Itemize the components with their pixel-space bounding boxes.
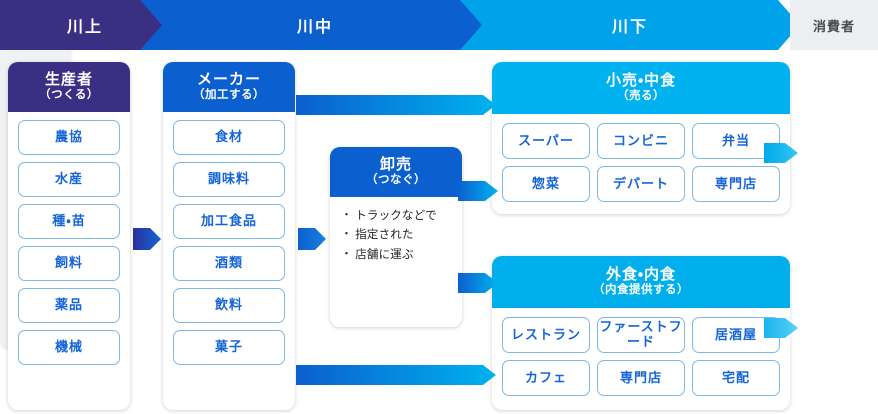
foodservice-column: 外食・内食 （内食提供する） レストラン ファーストフード 居酒屋 カフェ 専門… bbox=[492, 256, 790, 410]
foodservice-items: レストラン ファーストフード 居酒屋 カフェ 専門店 宅配 bbox=[492, 308, 790, 406]
producer-column: 生産者 （つくる） 農協 水産 種・苗 飼料 薬品 機械 bbox=[8, 62, 130, 410]
stage-segment-consumer: 消費者 bbox=[790, 0, 878, 50]
wholesale-bullet: ・ 指定された bbox=[341, 228, 453, 242]
arrow-foodservice-to-consumer-icon bbox=[764, 318, 798, 338]
stage-label-upstream: 川上 bbox=[67, 13, 103, 37]
bullet-marker-icon: ・ bbox=[341, 228, 352, 242]
supply-chain-diagram: 川上 川中 川下 消費者 生産者 （つくる） 農協 水産 種・苗 飼料 薬品 機… bbox=[0, 0, 878, 414]
maker-item[interactable]: 食材 bbox=[173, 120, 285, 155]
arrow-maker-to-wholesale-icon bbox=[298, 228, 326, 250]
stage-label-midstream: 川中 bbox=[297, 13, 333, 37]
wholesale-bullet: ・ トラックなどで bbox=[341, 209, 453, 223]
maker-item[interactable]: 加工食品 bbox=[173, 204, 285, 239]
foodservice-header: 外食・内食 （内食提供する） bbox=[492, 256, 790, 308]
foodservice-item[interactable]: ファーストフード bbox=[597, 317, 685, 353]
bullet-marker-icon: ・ bbox=[341, 209, 352, 223]
producer-item[interactable]: 農協 bbox=[18, 120, 120, 155]
producer-title: 生産者 bbox=[45, 71, 93, 89]
retail-item[interactable]: コンビニ bbox=[597, 123, 685, 159]
maker-item[interactable]: 酒類 bbox=[173, 246, 285, 281]
foodservice-subtitle: （内食提供する） bbox=[593, 284, 689, 298]
maker-subtitle: （加工する） bbox=[193, 89, 265, 103]
maker-header: メーカー （加工する） bbox=[163, 62, 295, 112]
wholesale-title: 卸売 bbox=[380, 156, 412, 174]
retail-subtitle: （売る） bbox=[617, 90, 665, 104]
maker-column: メーカー （加工する） 食材 調味料 加工食品 酒類 飲料 菓子 bbox=[163, 62, 295, 410]
maker-item[interactable]: 飲料 bbox=[173, 288, 285, 323]
bullet-marker-icon: ・ bbox=[341, 248, 352, 262]
producer-item[interactable]: 水産 bbox=[18, 162, 120, 197]
arrow-maker-to-foodservice-icon bbox=[296, 365, 496, 385]
producer-subtitle: （つくる） bbox=[39, 89, 99, 103]
foodservice-item[interactable]: レストラン bbox=[502, 317, 590, 353]
wholesale-bullet-text: トラックなどで bbox=[355, 209, 437, 223]
foodservice-item[interactable]: 専門店 bbox=[597, 360, 685, 396]
retail-item[interactable]: スーパー bbox=[502, 123, 590, 159]
wholesale-bullet-text: 店舗に運ぶ bbox=[355, 248, 414, 262]
foodservice-item[interactable]: カフェ bbox=[502, 360, 590, 396]
foodservice-title: 外食・内食 bbox=[606, 266, 676, 284]
producer-item[interactable]: 機械 bbox=[18, 330, 120, 365]
stage-label-consumer: 消費者 bbox=[813, 16, 855, 35]
producer-header: 生産者 （つくる） bbox=[8, 62, 130, 112]
wholesale-header: 卸売 （つなぐ） bbox=[330, 147, 462, 197]
retail-header: 小売・中食 （売る） bbox=[492, 62, 790, 114]
retail-items: スーパー コンビニ 弁当 惣菜 デパート 専門店 bbox=[492, 114, 790, 212]
retail-title: 小売・中食 bbox=[606, 72, 676, 90]
arrow-producer-to-maker-icon bbox=[133, 228, 161, 250]
retail-item[interactable]: 惣菜 bbox=[502, 166, 590, 202]
wholesale-subtitle: （つなぐ） bbox=[366, 174, 426, 188]
producer-items: 農協 水産 種・苗 飼料 薬品 機械 bbox=[8, 112, 130, 374]
producer-item[interactable]: 薬品 bbox=[18, 288, 120, 323]
maker-item[interactable]: 調味料 bbox=[173, 162, 285, 197]
maker-title: メーカー bbox=[197, 71, 261, 89]
maker-item[interactable]: 菓子 bbox=[173, 330, 285, 365]
wholesale-bullet: ・ 店舗に運ぶ bbox=[341, 248, 453, 262]
wholesale-bullet-text: 指定された bbox=[355, 228, 414, 242]
retail-item[interactable]: 専門店 bbox=[692, 166, 780, 202]
producer-item[interactable]: 種・苗 bbox=[18, 204, 120, 239]
retail-column: 小売・中食 （売る） スーパー コンビニ 弁当 惣菜 デパート 専門店 bbox=[492, 62, 790, 214]
wholesale-bullets: ・ トラックなどで ・ 指定された ・ 店舗に運ぶ bbox=[330, 197, 462, 262]
retail-item[interactable]: デパート bbox=[597, 166, 685, 202]
stage-segment-upstream: 川上 bbox=[0, 0, 170, 50]
wholesale-column: 卸売 （つなぐ） ・ トラックなどで ・ 指定された ・ 店舗に運ぶ bbox=[330, 147, 462, 327]
stage-label-downstream: 川下 bbox=[612, 13, 648, 37]
stage-segment-downstream: 川下 bbox=[460, 0, 800, 50]
maker-items: 食材 調味料 加工食品 酒類 飲料 菓子 bbox=[163, 112, 295, 374]
arrow-retail-to-consumer-icon bbox=[764, 143, 798, 163]
producer-item[interactable]: 飼料 bbox=[18, 246, 120, 281]
foodservice-item[interactable]: 宅配 bbox=[692, 360, 780, 396]
arrow-maker-to-retail-icon bbox=[296, 95, 496, 115]
stage-band: 川上 川中 川下 消費者 bbox=[0, 0, 878, 50]
stage-segment-midstream: 川中 bbox=[140, 0, 490, 50]
